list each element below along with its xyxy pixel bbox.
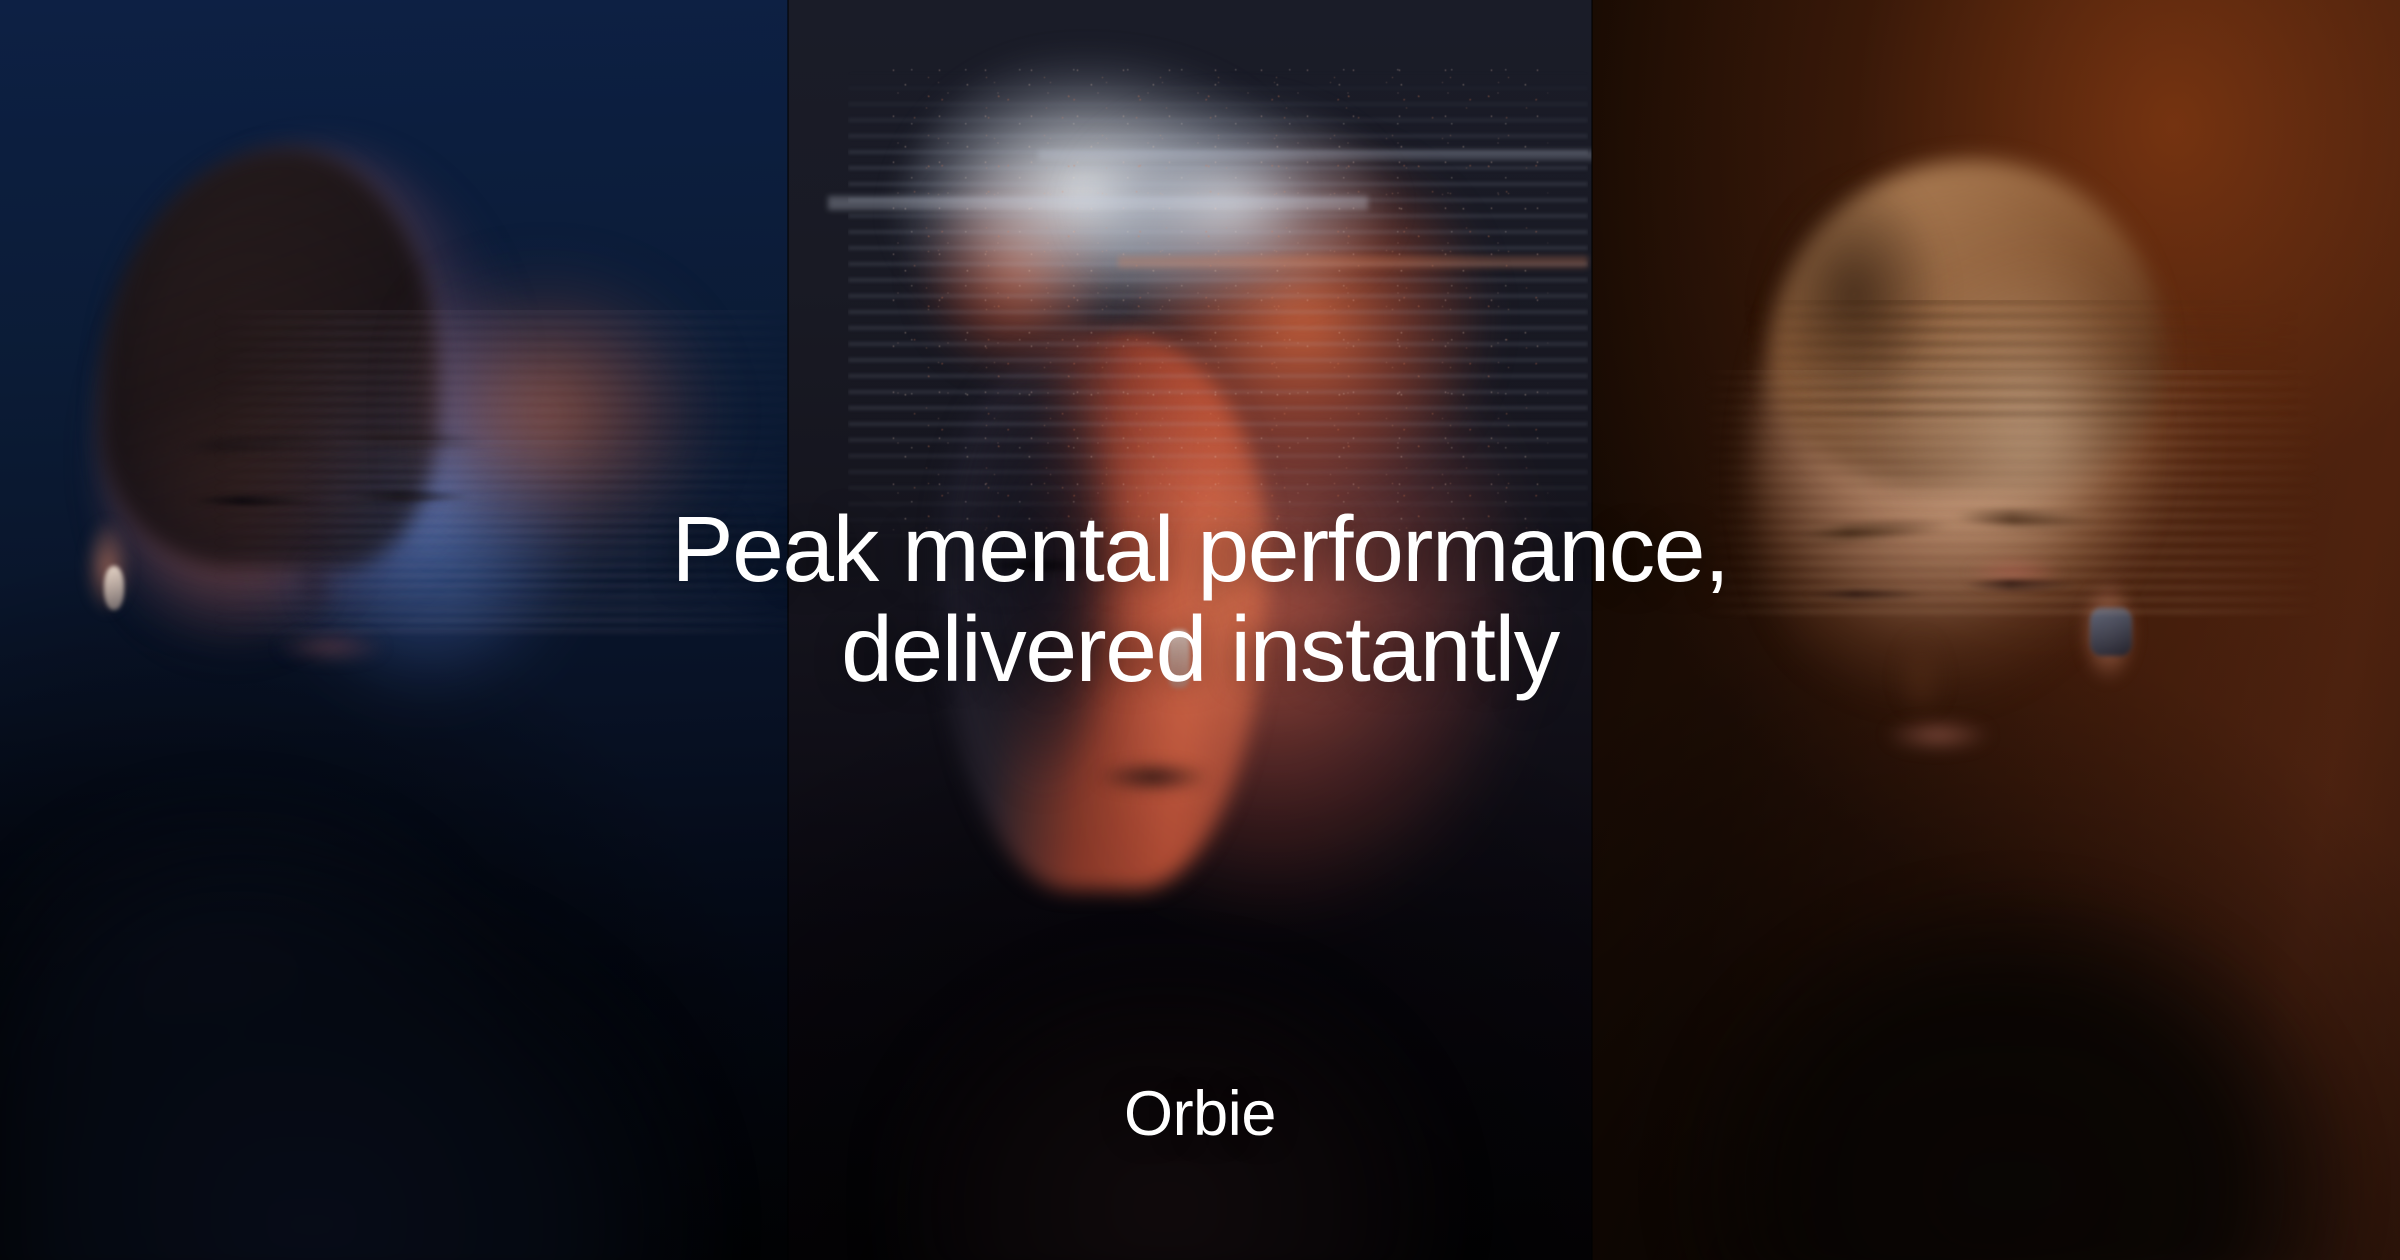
brand-wordmark: Orbie [0,1078,2400,1150]
headline-line-2: delivered instantly [0,600,2400,700]
hero-text-overlay: Peak mental performance, delivered insta… [0,0,2400,1260]
page-title: Peak mental performance, delivered insta… [0,500,2400,699]
headline-line-1: Peak mental performance, [0,500,2400,600]
hero-banner: Peak mental performance, delivered insta… [0,0,2400,1260]
